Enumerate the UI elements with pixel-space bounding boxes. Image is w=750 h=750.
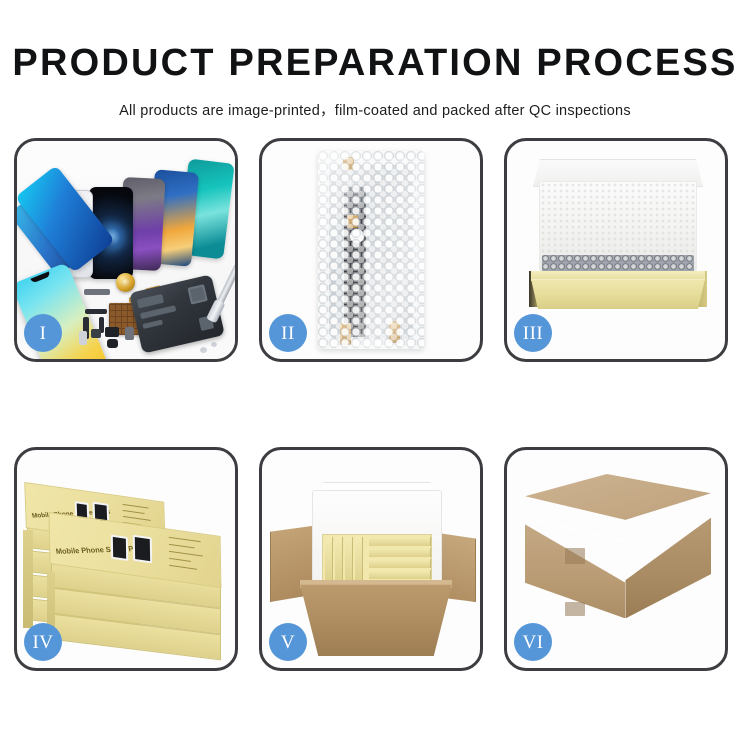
screw-2 — [211, 342, 217, 347]
header: PRODUCT PREPARATION PROCESS All products… — [0, 0, 750, 120]
bubble-bag — [318, 151, 424, 349]
bag-body — [318, 151, 424, 349]
camera-module — [105, 327, 119, 337]
page-title: PRODUCT PREPARATION PROCESS — [0, 0, 750, 82]
inner-box-8 — [369, 570, 431, 579]
tape-patch-1 — [565, 548, 585, 564]
step-badge-5: V — [269, 623, 307, 661]
page-subtitle: All products are image-printed，film-coat… — [0, 82, 750, 120]
process-step-1[interactable]: I — [14, 138, 238, 362]
carton-top-face — [525, 474, 711, 548]
chassis-camera-1 — [187, 284, 207, 304]
tape-patch-2 — [565, 602, 585, 616]
spare-part-small-2 — [91, 329, 101, 338]
product-preparation-infographic: PRODUCT PREPARATION PROCESS All products… — [0, 0, 750, 750]
process-step-grid: I — [14, 138, 736, 694]
inner-box-6 — [369, 548, 431, 557]
box-screen-art-2 — [133, 535, 152, 564]
spare-part-bar — [84, 289, 110, 295]
process-step-2[interactable]: II — [259, 138, 483, 362]
screw-1 — [200, 347, 207, 353]
open-box — [525, 159, 711, 309]
step-badge-6: VI — [514, 623, 552, 661]
box-front-panel — [531, 279, 705, 309]
step-badge-3: III — [514, 314, 552, 352]
process-step-4[interactable]: Mobile Phone Spare Parts Mobile Phone Sp… — [14, 447, 238, 671]
process-step-5[interactable]: V — [259, 447, 483, 671]
inner-box-7 — [369, 559, 431, 568]
carton-body — [300, 584, 452, 656]
chassis-detail-2 — [140, 305, 176, 319]
step-badge-1: I — [24, 314, 62, 352]
vibrator-part — [125, 327, 134, 340]
chassis-detail-1 — [137, 294, 164, 309]
sealed-carton — [525, 474, 711, 642]
step-badge-4: IV — [24, 623, 62, 661]
carton-side-face — [625, 518, 711, 619]
chassis-detail-3 — [142, 320, 163, 329]
process-step-3[interactable]: III — [504, 138, 728, 362]
inner-box-5 — [369, 537, 431, 546]
stack-side-left — [23, 530, 33, 628]
battery-part — [79, 331, 87, 345]
box-screen-art-1 — [111, 535, 128, 561]
flex-cable-1 — [85, 309, 107, 314]
speaker-part — [107, 339, 118, 348]
plastic-sheen — [318, 151, 424, 349]
step-badge-2: II — [269, 314, 307, 352]
process-step-6[interactable]: VI — [504, 447, 728, 671]
gold-connector-part — [116, 273, 135, 292]
